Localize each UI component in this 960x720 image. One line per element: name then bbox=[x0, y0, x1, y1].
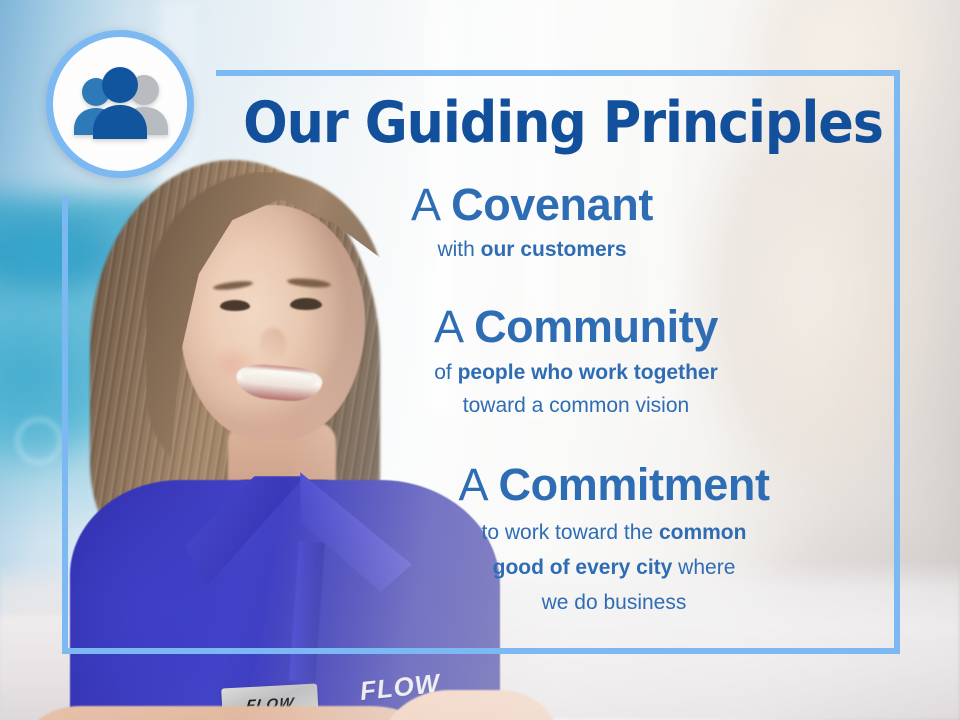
principle-2-sub-lead: of bbox=[434, 361, 457, 384]
principle-3-keyword: Commitment bbox=[499, 459, 770, 510]
principle-1-sub-lead: with bbox=[437, 238, 480, 261]
principle-1-article: A bbox=[411, 179, 439, 230]
banner-canvas: FLOW FLOW Our Guiding Principle bbox=[0, 0, 960, 720]
employee-forearm bbox=[20, 706, 450, 720]
principle-2-subtext-line-2: toward a common vision bbox=[272, 391, 880, 420]
principle-3-article: A bbox=[458, 459, 486, 510]
principle-1-keyword: Covenant bbox=[451, 179, 653, 230]
principle-commitment: A Commitment to work toward the common g… bbox=[348, 458, 880, 617]
principle-3-heading: A Commitment bbox=[348, 458, 880, 512]
frame-border-left bbox=[62, 196, 68, 654]
principle-3-sub-tail: where bbox=[672, 556, 735, 579]
principle-3-sub-lead: to work toward the bbox=[482, 521, 659, 544]
page-title: Our Guiding Principles bbox=[243, 92, 867, 154]
principle-1-subtext: with our customers bbox=[184, 235, 880, 264]
principle-1-sub-bold: our customers bbox=[481, 238, 627, 261]
frame-border-right bbox=[894, 70, 900, 654]
frame-border-top bbox=[216, 70, 900, 76]
principle-2-keyword: Community bbox=[474, 301, 718, 352]
principle-community: A Community of people who work together … bbox=[272, 300, 880, 420]
principle-2-article: A bbox=[434, 301, 462, 352]
principle-2-heading: A Community bbox=[272, 300, 880, 354]
principle-1-heading: A Covenant bbox=[184, 178, 880, 232]
principle-covenant: A Covenant with our customers bbox=[184, 178, 880, 264]
principle-3-sub-bold-2: good of every city bbox=[493, 556, 673, 579]
principle-2-sub-bold: people who work together bbox=[458, 361, 718, 384]
principle-3-subtext-line-2: good of every city where bbox=[348, 553, 880, 582]
people-group-icon bbox=[46, 30, 194, 178]
principle-3-subtext-line-3: we do business bbox=[348, 588, 880, 617]
principle-2-subtext-line-1: of people who work together bbox=[272, 358, 880, 387]
principle-3-sub-bold-1: common bbox=[659, 521, 747, 544]
principles-list: A Covenant with our customers A Communit… bbox=[200, 178, 880, 627]
principle-3-subtext-line-1: to work toward the common bbox=[348, 518, 880, 547]
frame-border-bottom bbox=[62, 648, 900, 654]
